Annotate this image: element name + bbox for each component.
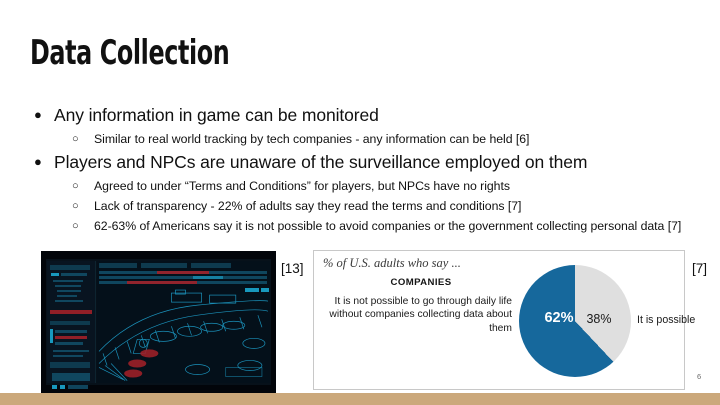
list-item-label: 62-63% of Americans say it is not possib… <box>94 217 681 236</box>
list-item-label: Agreed to under “Terms and Conditions” f… <box>94 177 510 196</box>
game-interface-screenshot <box>41 251 276 393</box>
bullet-circle-icon: ○ <box>72 197 94 216</box>
pie-legend-right: It is possible <box>637 314 695 326</box>
list-item: ○ Agreed to under “Terms and Conditions”… <box>34 177 694 196</box>
bullet-circle-icon: ○ <box>72 217 94 236</box>
slide: Data Collection ● Any information in gam… <box>0 0 720 405</box>
bullet-disc-icon: ● <box>34 150 54 174</box>
list-item-label: Lack of transparency - 22% of adults say… <box>94 197 521 216</box>
page-number: 6 <box>697 372 701 381</box>
list-item: ○ Lack of transparency - 22% of adults s… <box>34 197 694 216</box>
chart-annotation: It is not possible to go through daily l… <box>328 295 512 335</box>
chart-title: % of U.S. adults who say ... <box>323 256 461 271</box>
list-item-label: Any information in game can be monitored <box>54 103 379 127</box>
pie-chart: 62% 38% <box>519 265 631 377</box>
figure-citation-left: [13] <box>281 261 304 276</box>
bullet-circle-icon: ○ <box>72 177 94 196</box>
screenshot-left-sidebar <box>47 261 96 383</box>
bullet-list: ● Any information in game can be monitor… <box>34 103 694 237</box>
list-item: ○ Similar to real world tracking by tech… <box>34 130 694 149</box>
pie-slice-label-primary: 62% <box>535 310 583 326</box>
list-item-label: Similar to real world tracking by tech c… <box>94 130 529 149</box>
chart-subtitle: COMPANIES <box>332 277 510 288</box>
list-item: ● Any information in game can be monitor… <box>34 103 694 127</box>
list-item-label: Players and NPCs are unaware of the surv… <box>54 150 587 174</box>
footer-bar <box>0 393 720 405</box>
list-item: ● Players and NPCs are unaware of the su… <box>34 150 694 174</box>
figure-citation-right: [7] <box>692 261 707 276</box>
pew-chart-figure: % of U.S. adults who say ... COMPANIES I… <box>313 250 685 390</box>
bullet-disc-icon: ● <box>34 103 54 127</box>
list-item: ○ 62-63% of Americans say it is not poss… <box>34 217 694 236</box>
page-title: Data Collection <box>30 33 229 73</box>
bullet-circle-icon: ○ <box>72 130 94 149</box>
pie-slice-label-secondary: 38% <box>577 312 621 326</box>
screenshot-wireframe-scene <box>97 281 270 382</box>
